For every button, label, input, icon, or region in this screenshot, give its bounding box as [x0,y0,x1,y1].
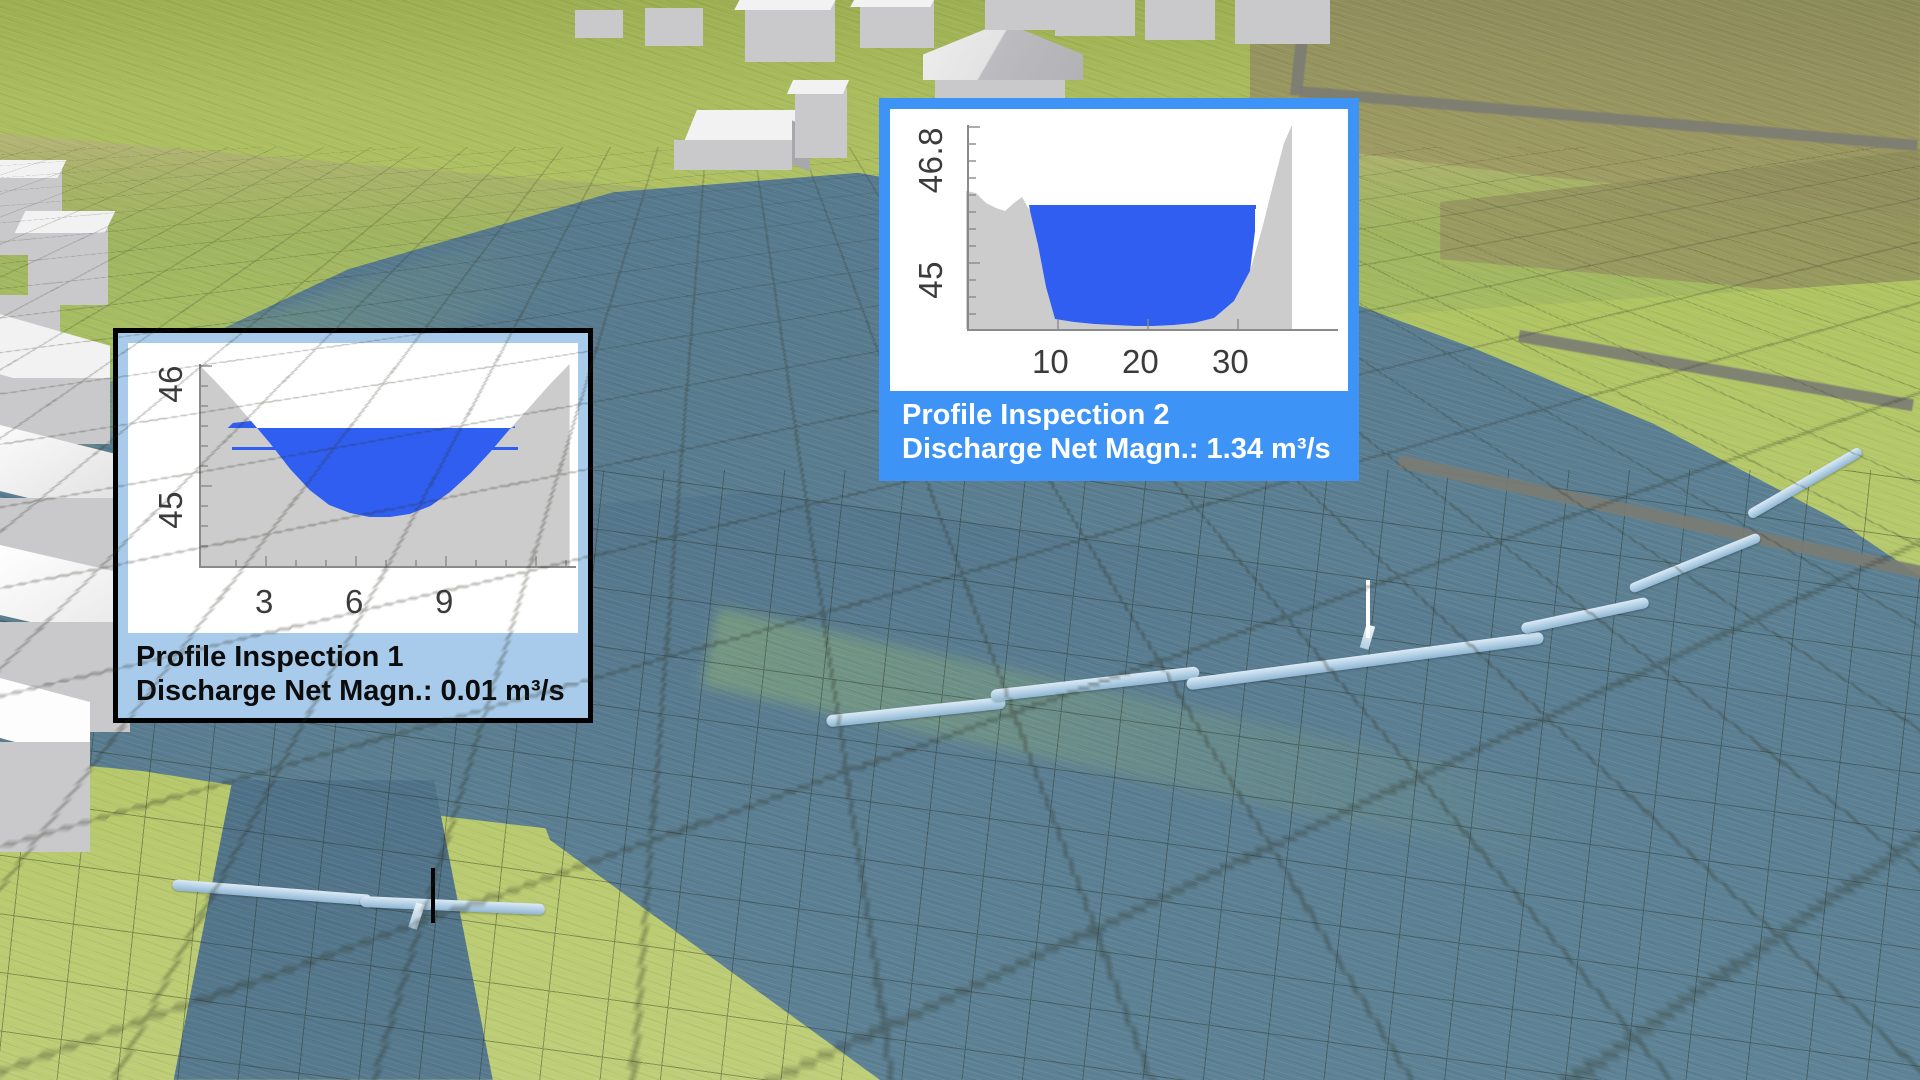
callout-2-chart[interactable]: 46.8 45 [890,109,1348,391]
chart-2-xtick-10: 10 [1032,343,1069,381]
chart-2-ytick-46p8: 46.8 [912,127,950,193]
chart-2-xtick-30: 30 [1212,343,1249,381]
callout-1-metric: Discharge Net Magn.: 0.01 m³/s [136,675,574,709]
chart-1-ytick-46: 46 [152,365,190,403]
callout-1-label-band: Profile Inspection 1 Discharge Net Magn.… [118,633,588,718]
chart-2-plot-area [958,119,1338,347]
callout-2-frame[interactable]: 46.8 45 [879,98,1359,481]
chart-1-xtick-6: 6 [345,583,363,621]
callout-1-leader-line [431,868,435,923]
callout-2-title: Profile Inspection 2 [902,399,1340,433]
callout-2-metric: Discharge Net Magn.: 1.34 m³/s [902,433,1340,467]
callout-profile-inspection-1[interactable]: 46 45 [113,328,593,723]
chart-2-ytick-45: 45 [912,261,950,299]
chart-1-plot-area [190,358,576,588]
viewport-3d-scene[interactable]: 46 45 [0,0,1920,1080]
callout-1-chart[interactable]: 46 45 [128,343,578,633]
callout-1-frame[interactable]: 46 45 [113,328,593,723]
callout-2-label-band: Profile Inspection 2 Discharge Net Magn.… [884,391,1354,476]
chart-1-ytick-45: 45 [152,491,190,529]
callout-1-title: Profile Inspection 1 [136,641,574,675]
chart-1-xtick-9: 9 [435,583,453,621]
callout-profile-inspection-2[interactable]: 46.8 45 [879,98,1359,481]
chart-2-xtick-20: 20 [1122,343,1159,381]
chart-1-xtick-3: 3 [255,583,273,621]
callout-2-leader-line [1366,580,1370,638]
